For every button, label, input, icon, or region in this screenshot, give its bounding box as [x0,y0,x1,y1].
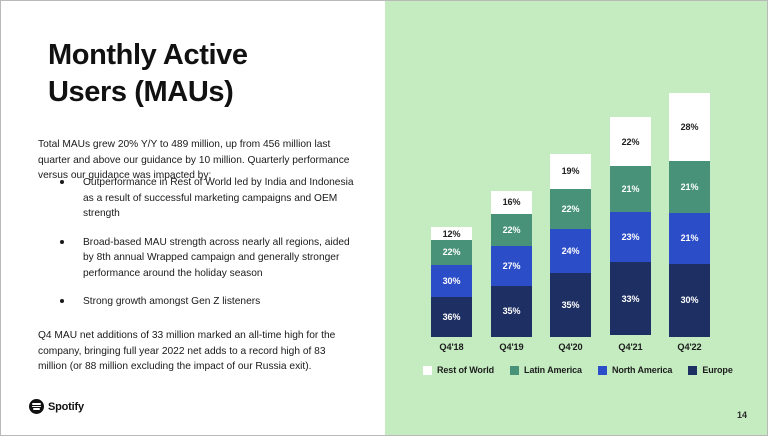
spotify-logo: Spotify [29,399,84,414]
presentation-slide: Monthly Active Users (MAUs) Total MAUs g… [0,0,768,436]
chart-legend: Rest of World Latin America North Americ… [423,365,733,375]
legend-item-europe: Europe [688,365,732,375]
list-item-text: Broad-based MAU strength across nearly a… [83,237,350,279]
legend-label: North America [612,365,672,375]
legend-label: Rest of World [437,365,494,375]
legend-swatch-icon [423,366,432,375]
legend-swatch-icon [598,366,607,375]
bar-segment-north-america: 21% [669,213,710,264]
x-axis-tick-label: Q4'19 [484,342,539,352]
page-title: Monthly Active Users (MAUs) [48,37,368,111]
list-item-text: Outperformance in Rest of World led by I… [83,177,354,219]
closing-paragraph: Q4 MAU net additions of 33 million marke… [38,328,348,375]
bar-segment-rest-of-world: 28% [669,93,710,161]
legend-item-latin-america: Latin America [510,365,582,375]
stacked-bar: 19% 22% 24% 35% [550,154,591,337]
stacked-bar: 22% 21% 23% 33% [610,117,651,337]
legend-item-north-america: North America [598,365,672,375]
bar-segment-europe: 35% [491,286,532,337]
bar-segment-rest-of-world: 12% [431,227,472,240]
bullet-dot-icon [60,180,64,184]
bar-segment-north-america: 27% [491,246,532,286]
bar-group: 16% 22% 27% 35% Q4'19 [491,191,532,337]
legend-label: Europe [702,365,732,375]
legend-swatch-icon [510,366,519,375]
list-item-text: Strong growth amongst Gen Z listeners [83,296,260,307]
x-axis-tick-label: Q4'22 [662,342,717,352]
bullet-list: Outperformance in Rest of World led by I… [38,175,358,323]
bullet-dot-icon [60,240,64,244]
legend-item-rest-of-world: Rest of World [423,365,494,375]
stacked-bar: 12% 22% 30% 36% [431,227,472,337]
bar-group: 22% 21% 23% 33% Q4'21 [610,117,651,337]
bar-segment-europe: 35% [550,273,591,337]
bar-segment-latin-america: 22% [550,189,591,229]
bar-segment-europe: 30% [669,264,710,337]
bar-segment-rest-of-world: 19% [550,154,591,189]
bar-segment-north-america: 24% [550,229,591,273]
bar-segment-europe: 33% [610,262,651,334]
list-item: Broad-based MAU strength across nearly a… [38,235,358,282]
brand-name: Spotify [48,401,84,413]
page-number: 14 [737,410,747,420]
bar-segment-latin-america: 22% [431,240,472,264]
x-axis-tick-label: Q4'20 [543,342,598,352]
bullet-dot-icon [60,299,64,303]
legend-swatch-icon [688,366,697,375]
bar-group: 19% 22% 24% 35% Q4'20 [550,154,591,337]
stacked-bar: 16% 22% 27% 35% [491,191,532,337]
bar-group: 28% 21% 21% 30% Q4'22 [669,93,710,337]
page-title-line-2: Users (MAUs) [48,74,368,111]
x-axis-tick-label: Q4'18 [424,342,479,352]
x-axis-tick-label: Q4'21 [603,342,658,352]
bar-segment-latin-america: 21% [610,166,651,212]
bar-segment-latin-america: 22% [491,214,532,246]
page-title-line-1: Monthly Active [48,37,368,74]
bar-segment-europe: 36% [431,297,472,337]
legend-label: Latin America [524,365,582,375]
bar-segment-latin-america: 21% [669,161,710,212]
list-item: Outperformance in Rest of World led by I… [38,175,358,222]
bar-segment-north-america: 30% [431,265,472,298]
list-item: Strong growth amongst Gen Z listeners [38,294,358,310]
chart-plot-area: 12% 22% 30% 36% Q4'18 16% 22% 27% 35% Q4… [419,23,749,337]
bar-segment-north-america: 23% [610,212,651,263]
bar-group: 12% 22% 30% 36% Q4'18 [431,227,472,337]
stacked-bar: 28% 21% 21% 30% [669,93,710,337]
bar-segment-rest-of-world: 16% [491,191,532,214]
stacked-bar-chart: 12% 22% 30% 36% Q4'18 16% 22% 27% 35% Q4… [385,1,768,436]
bar-segment-rest-of-world: 22% [610,117,651,165]
spotify-icon [29,399,44,414]
